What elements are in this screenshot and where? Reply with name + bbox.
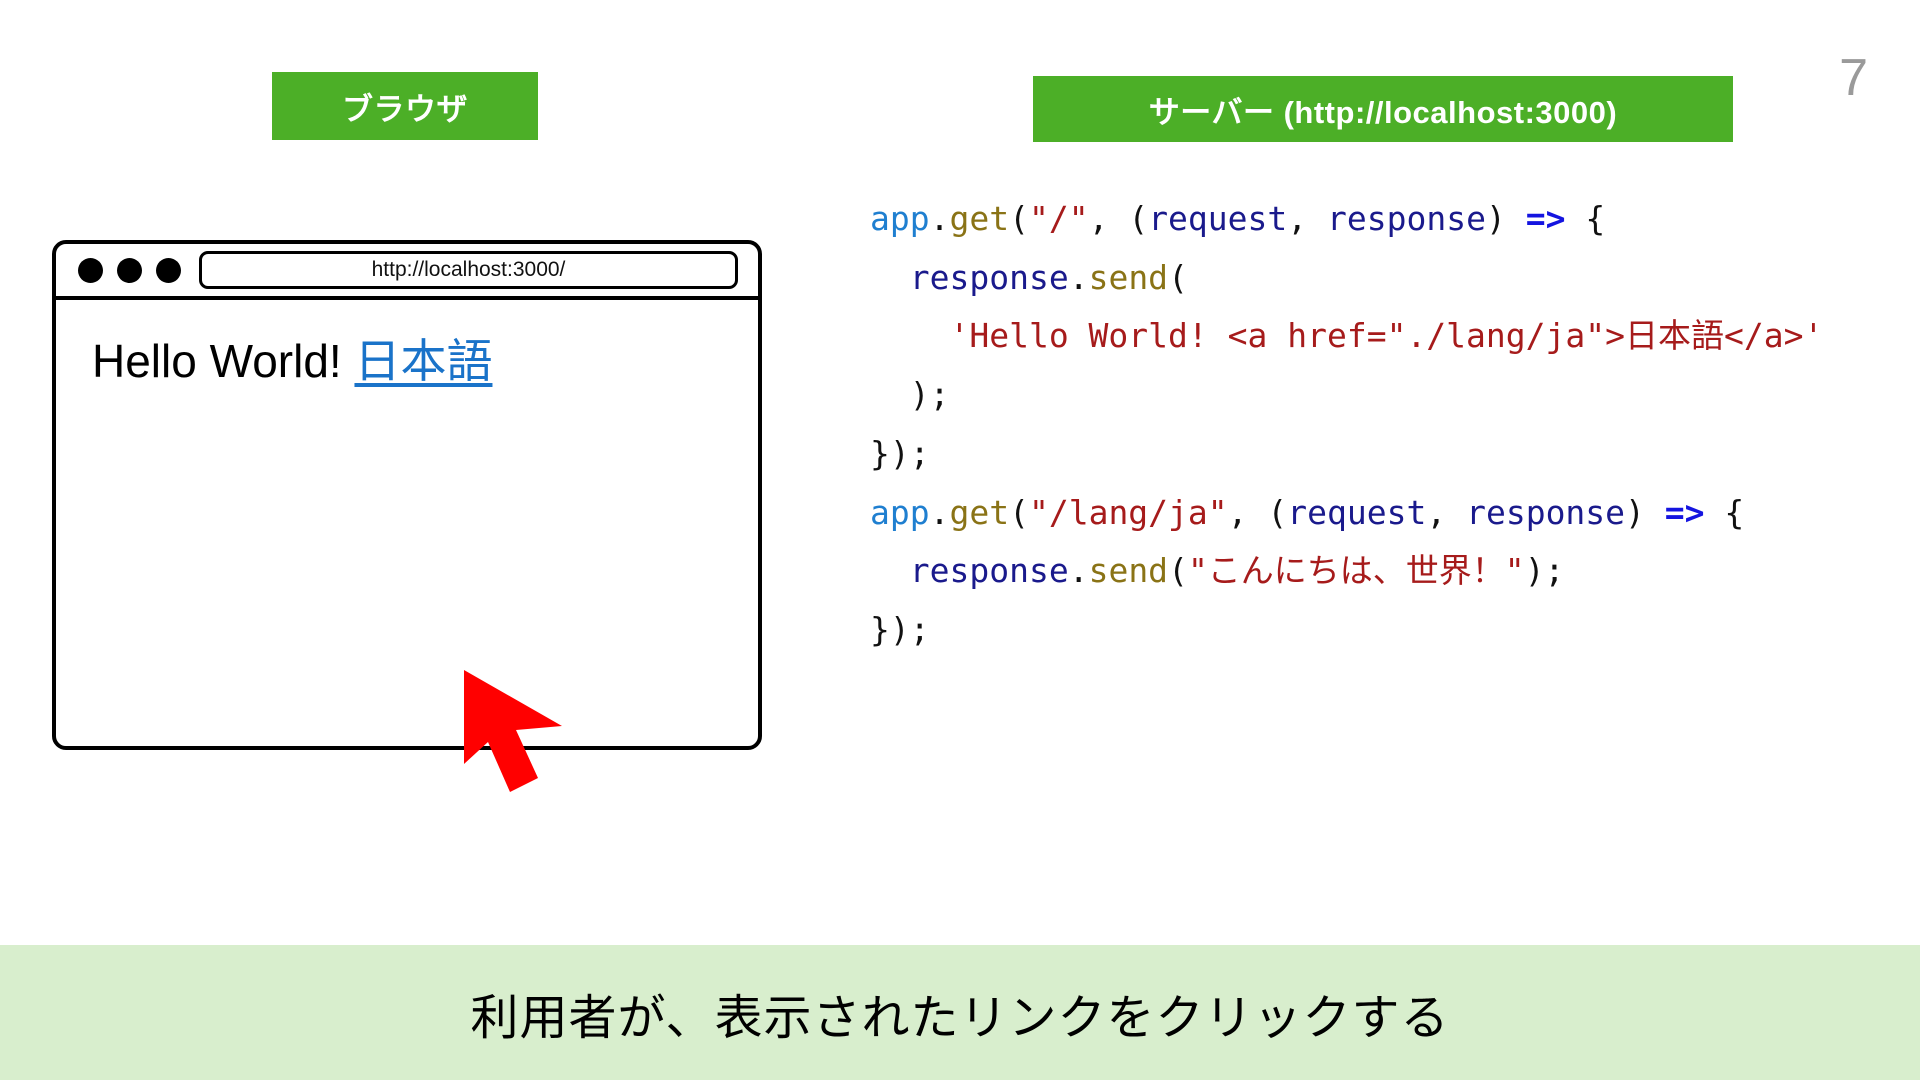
code-token: , ( — [1089, 199, 1149, 238]
code-token: response — [910, 258, 1069, 297]
code-line: 'Hello World! <a href="./lang/ja">日本語</a… — [870, 307, 1880, 366]
browser-window-mockup: http://localhost:3000/ Hello World! 日本語 — [52, 240, 762, 750]
code-token: , — [1426, 493, 1466, 532]
window-controls — [78, 258, 181, 283]
code-token: . — [1069, 551, 1089, 590]
code-token — [870, 551, 910, 590]
code-token: { — [1705, 493, 1745, 532]
code-line: app.get("/lang/ja", (request, response) … — [870, 484, 1880, 543]
code-token: response — [910, 551, 1069, 590]
window-close-dot-icon[interactable] — [78, 258, 103, 283]
code-token: ( — [1009, 199, 1029, 238]
window-maximize-dot-icon[interactable] — [156, 258, 181, 283]
browser-section-header-label: ブラウザ — [342, 84, 468, 129]
browser-titlebar: http://localhost:3000/ — [56, 244, 758, 300]
code-token — [870, 258, 910, 297]
server-section-header-label: サーバー (http://localhost:3000) — [1149, 87, 1617, 132]
rendered-page-text: Hello World! — [92, 335, 354, 387]
browser-section-header: ブラウザ — [272, 72, 538, 140]
caption-text: 利用者が、表示されたリンクをクリックする — [470, 978, 1449, 1048]
code-token: ( — [1168, 258, 1188, 297]
address-bar-url: http://localhost:3000/ — [372, 258, 566, 282]
window-minimize-dot-icon[interactable] — [117, 258, 142, 283]
code-token: send — [1089, 258, 1168, 297]
rendered-page-link[interactable]: 日本語 — [354, 335, 492, 387]
code-token — [870, 316, 949, 355]
code-token: }); — [870, 610, 930, 649]
server-code-block: app.get("/", (request, response) => { re… — [870, 190, 1880, 660]
code-line: ); — [870, 366, 1880, 425]
code-token: . — [930, 493, 950, 532]
code-token: ); — [870, 375, 949, 414]
mouse-pointer-arrow-icon — [458, 668, 578, 798]
code-token: ( — [1168, 551, 1188, 590]
rendered-page-content: Hello World! 日本語 — [92, 334, 758, 389]
code-token: app — [870, 493, 930, 532]
code-token: => — [1526, 199, 1566, 238]
code-token: 'Hello World! <a href="./lang/ja">日本語</a… — [949, 316, 1823, 355]
code-token: response — [1466, 493, 1625, 532]
code-token: "/lang/ja" — [1029, 493, 1228, 532]
code-token: ) — [1625, 493, 1665, 532]
code-line: response.send( — [870, 249, 1880, 308]
address-bar[interactable]: http://localhost:3000/ — [199, 251, 738, 289]
slide-root: 7 ブラウザ サーバー (http://localhost:3000) http… — [0, 0, 1920, 1080]
code-token: response — [1327, 199, 1486, 238]
server-section-header: サーバー (http://localhost:3000) — [1033, 76, 1733, 142]
code-token: }); — [870, 434, 930, 473]
code-token: get — [949, 199, 1009, 238]
caption-band: 利用者が、表示されたリンクをクリックする — [0, 945, 1920, 1080]
code-token: "こんにちは、世界！" — [1188, 551, 1525, 590]
code-token: , ( — [1228, 493, 1288, 532]
code-line: }); — [870, 425, 1880, 484]
code-line: app.get("/", (request, response) => { — [870, 190, 1880, 249]
code-token: , — [1287, 199, 1327, 238]
browser-viewport: Hello World! 日本語 — [56, 300, 758, 746]
code-token: => — [1665, 493, 1705, 532]
code-token: request — [1287, 493, 1426, 532]
code-line: }); — [870, 601, 1880, 660]
page-number: 7 — [1839, 52, 1868, 104]
code-token: "/" — [1029, 199, 1089, 238]
code-token: request — [1148, 199, 1287, 238]
code-token: get — [949, 493, 1009, 532]
code-token: { — [1565, 199, 1605, 238]
code-token: . — [930, 199, 950, 238]
code-token: send — [1089, 551, 1168, 590]
code-token: . — [1069, 258, 1089, 297]
code-token: ); — [1525, 551, 1565, 590]
code-token: ) — [1486, 199, 1526, 238]
code-token: app — [870, 199, 930, 238]
code-token: ( — [1009, 493, 1029, 532]
code-line: response.send("こんにちは、世界！"); — [870, 542, 1880, 601]
